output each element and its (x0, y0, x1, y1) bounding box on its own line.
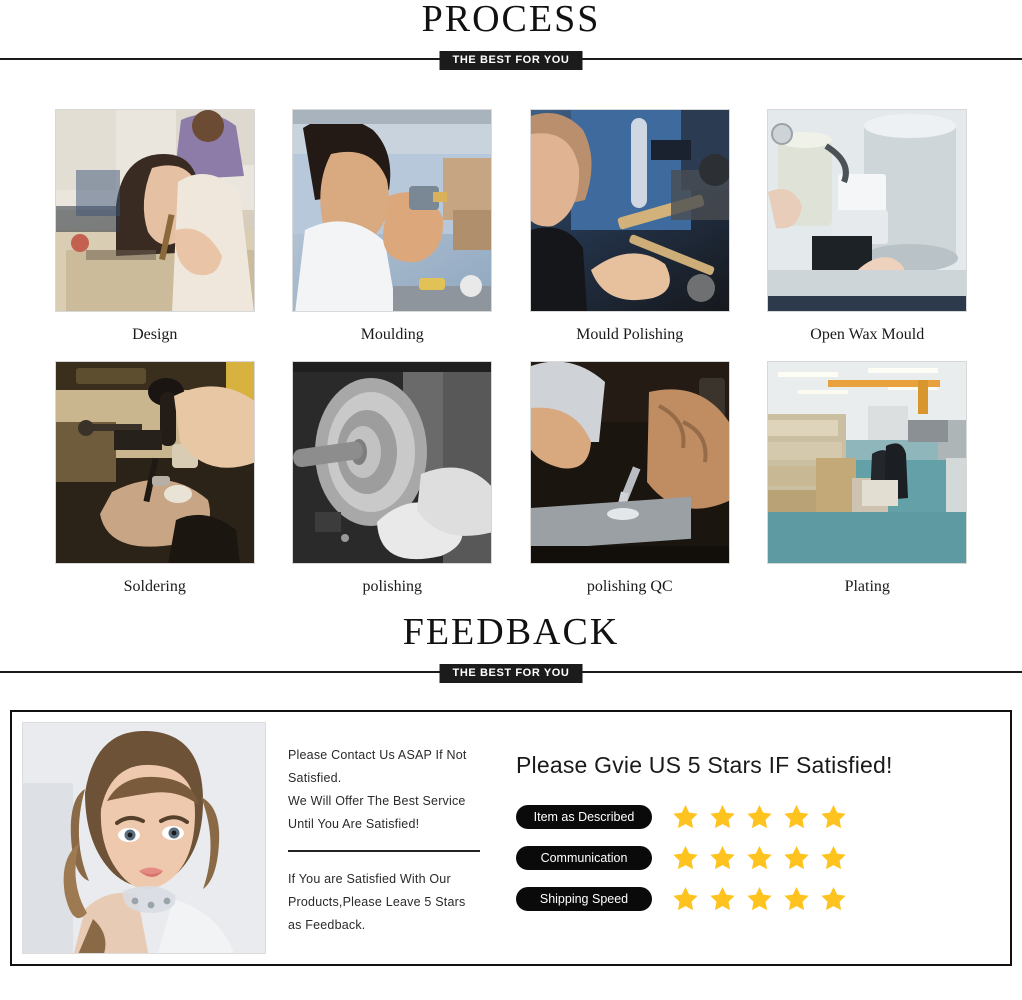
star-icon[interactable] (672, 844, 699, 871)
process-label-design: Design (132, 326, 177, 344)
process-step-design: Design (36, 109, 274, 361)
feedback-message-line: Satisfied. (288, 767, 486, 790)
star-icon[interactable] (709, 885, 736, 912)
rating-label: Shipping Speed (516, 887, 652, 911)
star-icon[interactable] (820, 844, 847, 871)
star-icon[interactable] (672, 885, 699, 912)
page-root: PROCESS THE BEST FOR YOU (0, 0, 1022, 1000)
star-icon[interactable] (746, 803, 773, 830)
star-icon[interactable] (709, 803, 736, 830)
process-label-polishing-qc: polishing QC (587, 578, 673, 596)
rating-label: Communication (516, 846, 652, 870)
feedback-message-line: Please Contact Us ASAP If Not (288, 744, 486, 767)
process-image-polishing (292, 361, 492, 564)
feedback-rule: THE BEST FOR YOU (0, 664, 1022, 686)
process-step-polishing-qc: polishing QC (511, 361, 749, 613)
feedback-message-line: If You are Satisfied With Our (288, 868, 486, 891)
process-label-mould-polishing: Mould Polishing (576, 326, 683, 344)
star-icon[interactable] (783, 885, 810, 912)
feedback-message-line: Products,Please Leave 5 Stars (288, 891, 486, 914)
process-step-mould-polishing: Mould Polishing (511, 109, 749, 361)
process-step-polishing: polishing (274, 361, 512, 613)
process-label-plating: Plating (845, 578, 890, 596)
process-image-polishing-qc (530, 361, 730, 564)
rating-label: Item as Described (516, 805, 652, 829)
process-rule: THE BEST FOR YOU (0, 51, 1022, 73)
moulding-scene-art (293, 110, 492, 312)
mould-polishing-scene-art (531, 110, 730, 312)
plating-scene-art (768, 362, 967, 564)
portrait-scene-art (23, 723, 266, 954)
rating-row-shipping-speed: Shipping Speed (516, 885, 990, 912)
process-label-open-wax-mould: Open Wax Mould (810, 326, 924, 344)
star-icon[interactable] (783, 803, 810, 830)
process-label-moulding: Moulding (361, 326, 424, 344)
star-icon[interactable] (783, 844, 810, 871)
process-step-soldering: Soldering (36, 361, 274, 613)
feedback-title: FEEDBACK (0, 613, 1022, 651)
process-image-mould-polishing (530, 109, 730, 312)
process-step-open-wax-mould: Open Wax Mould (749, 109, 987, 361)
polishing-qc-scene-art (531, 362, 730, 564)
rating-row-communication: Communication (516, 844, 990, 871)
feedback-message-line: We Will Offer The Best Service (288, 790, 486, 813)
feedback-heading: Please Gvie US 5 Stars IF Satisfied! (516, 752, 990, 779)
process-label-polishing: polishing (362, 578, 422, 596)
star-icon[interactable] (820, 885, 847, 912)
process-label-soldering: Soldering (124, 578, 186, 596)
polishing-scene-art (293, 362, 492, 564)
feedback-badge: THE BEST FOR YOU (440, 664, 583, 683)
process-image-design (55, 109, 255, 312)
star-icon[interactable] (820, 803, 847, 830)
star-icon[interactable] (746, 885, 773, 912)
process-image-moulding (292, 109, 492, 312)
feedback-section-header: FEEDBACK THE BEST FOR YOU (0, 613, 1022, 686)
star-icon[interactable] (709, 844, 736, 871)
feedback-text-divider (288, 850, 480, 852)
feedback-message-line: as Feedback. (288, 914, 486, 937)
rating-stars[interactable] (672, 803, 857, 830)
rating-stars[interactable] (672, 885, 857, 912)
process-image-soldering (55, 361, 255, 564)
feedback-section: Please Contact Us ASAP If Not Satisfied.… (0, 710, 1022, 966)
process-image-open-wax-mould (767, 109, 967, 312)
feedback-ratings: Please Gvie US 5 Stars IF Satisfied! Ite… (502, 722, 1000, 954)
soldering-scene-art (56, 362, 255, 564)
process-step-moulding: Moulding (274, 109, 512, 361)
process-section-header: PROCESS THE BEST FOR YOU (0, 0, 1022, 73)
process-grid: Design (0, 109, 1022, 613)
design-scene-art (56, 110, 255, 312)
rating-stars[interactable] (672, 844, 857, 871)
open-wax-mould-scene-art (768, 110, 967, 312)
feedback-panel: Please Contact Us ASAP If Not Satisfied.… (10, 710, 1012, 966)
process-step-plating: Plating (749, 361, 987, 613)
process-title: PROCESS (0, 0, 1022, 38)
feedback-photo (22, 722, 266, 954)
star-icon[interactable] (672, 803, 699, 830)
feedback-message: Please Contact Us ASAP If Not Satisfied.… (266, 722, 502, 954)
feedback-message-line: Until You Are Satisfied! (288, 813, 486, 836)
star-icon[interactable] (746, 844, 773, 871)
process-image-plating (767, 361, 967, 564)
process-badge: THE BEST FOR YOU (440, 51, 583, 70)
rating-row-item-as-described: Item as Described (516, 803, 990, 830)
